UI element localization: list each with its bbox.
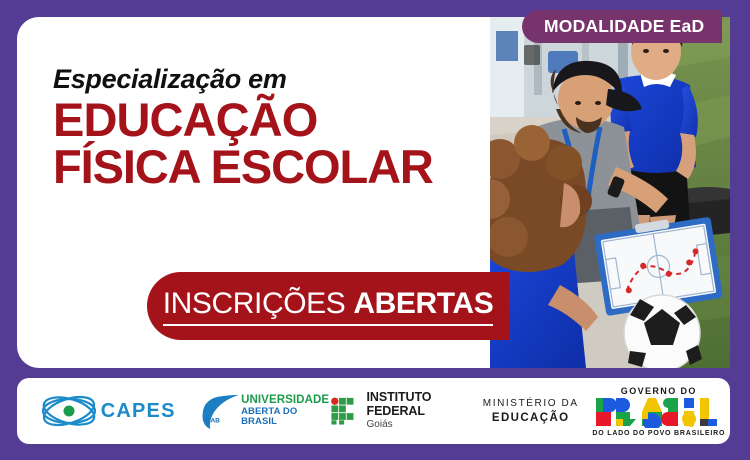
capes-atom-icon — [39, 391, 99, 431]
logo-instituto-federal-goias: INSTITUTO FEDERAL Goiás — [331, 378, 473, 444]
uab-wordmark: UNIVERSIDADE ABERTA DO BRASIL — [241, 394, 331, 427]
hero-card: Especialização em EDUCAÇÃO FÍSICA ESCOLA… — [17, 17, 730, 368]
mec-wordmark: MINISTÉRIO DA EDUCAÇÃO — [483, 396, 579, 425]
modalidade-badge-label: MODALIDADE EaD — [544, 16, 704, 37]
hero-headline: EDUCAÇÃO FÍSICA ESCOLAR — [53, 97, 513, 190]
mec-line2: EDUCAÇÃO — [483, 411, 579, 425]
hero-headline-line1: EDUCAÇÃO — [53, 97, 513, 144]
uab-line2: ABERTA DO BRASIL — [241, 407, 331, 428]
cta-label: INSCRIÇÕES ABERTAS — [163, 287, 494, 326]
gov-line-bottom: DO LADO DO POVO BRASILEIRO — [592, 430, 725, 437]
uab-line1: UNIVERSIDADE — [241, 394, 331, 406]
hero-copy: Especialização em EDUCAÇÃO FÍSICA ESCOLA… — [53, 64, 513, 190]
brasil-blocks-icon — [596, 398, 724, 428]
ifg-line2: Goiás — [367, 419, 474, 431]
mec-line1: MINISTÉRIO DA — [483, 396, 579, 411]
partner-logos-bar: CAPES UAB UNIVERSIDADE ABERTA DO BRASIL … — [17, 378, 730, 444]
if-grid-icon — [331, 395, 358, 427]
ifg-line1: INSTITUTO FEDERAL — [367, 391, 474, 419]
hero-photo-illustration — [490, 17, 730, 368]
gov-line-top: GOVERNO DO — [592, 386, 725, 396]
modalidade-badge: MODALIDADE EaD — [522, 10, 722, 43]
hero-headline-line2: FÍSICA ESCOLAR — [53, 144, 513, 191]
ifg-wordmark: INSTITUTO FEDERAL Goiás — [367, 391, 474, 431]
capes-wordmark: CAPES — [101, 400, 176, 423]
uab-swoosh-icon: UAB — [197, 390, 241, 432]
logo-uab: UAB UNIVERSIDADE ABERTA DO BRASIL — [197, 378, 331, 444]
hero-photo — [490, 17, 730, 368]
hero-kicker: Especialização em — [53, 64, 513, 95]
cta-label-bold: ABERTAS — [353, 287, 493, 320]
logo-capes: CAPES — [17, 378, 197, 444]
logo-governo-do-brasil: GOVERNO DO — [588, 378, 730, 444]
cta-label-light: INSCRIÇÕES — [163, 287, 354, 320]
svg-text:UAB: UAB — [206, 417, 221, 424]
logo-ministerio-educacao: MINISTÉRIO DA EDUCAÇÃO — [474, 378, 588, 444]
gov-wordmark: GOVERNO DO — [592, 386, 725, 437]
inscricoes-abertas-button[interactable]: INSCRIÇÕES ABERTAS — [147, 272, 509, 340]
